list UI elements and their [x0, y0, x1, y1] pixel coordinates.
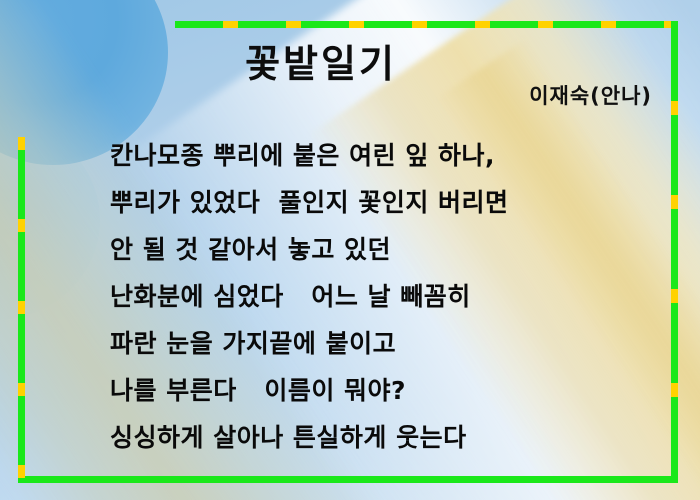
poem-slide: 꽃밭일기 이재숙(안나) 칸나모종 뿌리에 붙은 여린 잎 하나, 뿌리가 있었…	[0, 0, 700, 500]
poem-line: 안 될 것 같아서 놓고 있던	[110, 226, 660, 273]
poem-line: 나를 부른다 이름이 뭐야?	[110, 367, 660, 414]
slide-content: 꽃밭일기 이재숙(안나) 칸나모종 뿌리에 붙은 여린 잎 하나, 뿌리가 있었…	[0, 0, 700, 500]
poem-line: 뿌리가 있었다 풀인지 꽃인지 버리면	[110, 179, 660, 226]
poem-author: 이재숙(안나)	[529, 80, 652, 110]
poem-body: 칸나모종 뿌리에 붙은 여린 잎 하나, 뿌리가 있었다 풀인지 꽃인지 버리면…	[110, 132, 660, 461]
poem-line: 싱싱하게 살아나 튼실하게 웃는다	[110, 414, 660, 461]
poem-line: 칸나모종 뿌리에 붙은 여린 잎 하나,	[110, 132, 660, 179]
poem-line: 난화분에 심었다 어느 날 빼꼼히	[110, 273, 660, 320]
poem-line: 파란 눈을 가지끝에 붙이고	[110, 320, 660, 367]
